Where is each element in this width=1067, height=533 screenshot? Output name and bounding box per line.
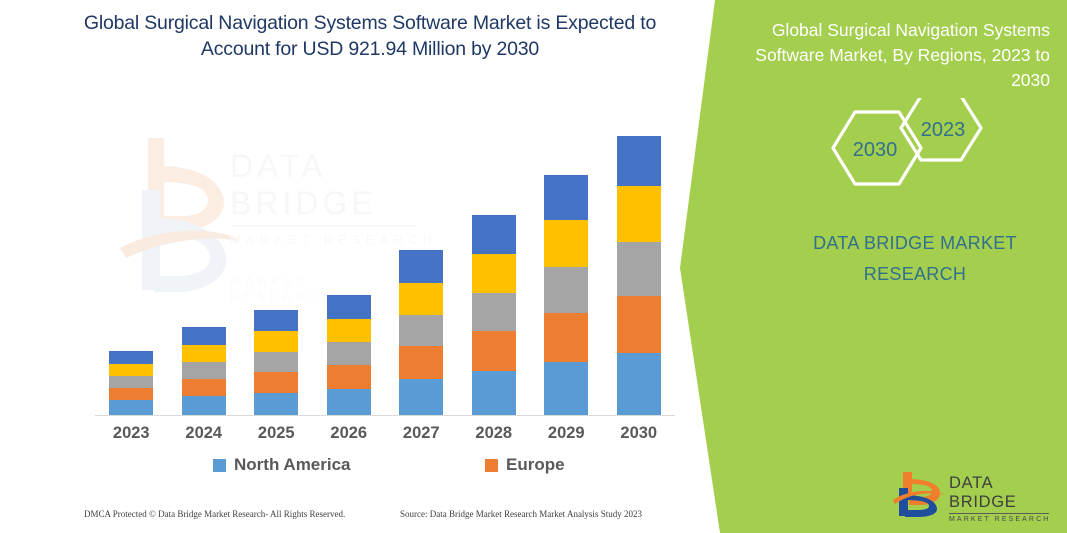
company-logo: DATA BRIDGE MARKET RESEARCH: [893, 470, 1053, 518]
bar-segment-middle-east-and-africa[interactable]: [399, 250, 443, 283]
footer: DMCA Protected © Data Bridge Market Rese…: [0, 505, 700, 529]
x-axis-label-2028: 2028: [458, 424, 530, 443]
bar-segment-europe[interactable]: [254, 372, 298, 393]
panel-brand-line2: RESEARCH: [790, 259, 1040, 290]
bar-segment-middle-east-and-africa[interactable]: [617, 136, 661, 186]
bar-segment-north-america[interactable]: [254, 393, 298, 415]
bar-segment-north-america[interactable]: [544, 362, 588, 415]
legend-swatch-icon: [485, 459, 498, 472]
x-axis-label-2025: 2025: [240, 424, 312, 443]
bar-segment-middle-east-and-africa[interactable]: [182, 327, 226, 345]
bar-segment-south-america[interactable]: [399, 283, 443, 315]
bar-segment-europe[interactable]: [472, 331, 516, 371]
x-axis-line: [95, 415, 675, 416]
bar-segment-middle-east-and-africa[interactable]: [544, 175, 588, 220]
hexagon-badges: 2023 2030: [825, 98, 990, 208]
bar-segment-asia-pacific[interactable]: [327, 342, 371, 365]
bar-segment-south-america[interactable]: [109, 364, 153, 376]
legend-item-north-america[interactable]: North America: [213, 455, 351, 475]
hex-badge-label-2023: 2023: [921, 119, 966, 141]
bar-segment-asia-pacific[interactable]: [254, 352, 298, 372]
bar-segment-south-america[interactable]: [182, 345, 226, 362]
footer-copyright: DMCA Protected © Data Bridge Market Rese…: [84, 509, 345, 519]
legend-swatch-icon: [213, 459, 226, 472]
x-axis-label-2024: 2024: [168, 424, 240, 443]
panel-title: Global Surgical Navigation Systems Softw…: [740, 18, 1050, 93]
chart-legend: North AmericaEurope: [95, 455, 675, 483]
bar-segment-asia-pacific[interactable]: [472, 293, 516, 331]
bar-segment-europe[interactable]: [544, 313, 588, 362]
bar-segment-south-america[interactable]: [617, 186, 661, 242]
x-axis-label-2027: 2027: [385, 424, 457, 443]
bar-2024[interactable]: [182, 327, 226, 415]
panel-brand-line1: DATA BRIDGE MARKET: [790, 228, 1040, 259]
x-axis-label-2026: 2026: [313, 424, 385, 443]
bar-segment-middle-east-and-africa[interactable]: [472, 215, 516, 254]
bar-chart-plot: [95, 120, 675, 416]
bar-segment-south-america[interactable]: [472, 254, 516, 293]
bar-segment-middle-east-and-africa[interactable]: [109, 351, 153, 364]
logo-subtitle: MARKET RESEARCH: [949, 516, 1053, 523]
bar-2023[interactable]: [109, 351, 153, 415]
logo-text: DATA BRIDGE MARKET RESEARCH: [949, 474, 1053, 523]
bar-segment-asia-pacific[interactable]: [617, 242, 661, 296]
legend-item-europe[interactable]: Europe: [485, 455, 565, 475]
bar-2028[interactable]: [472, 215, 516, 415]
data-bridge-logo-icon: [893, 470, 945, 518]
bar-segment-asia-pacific[interactable]: [399, 315, 443, 346]
bar-2026[interactable]: [327, 295, 371, 415]
hex-badge-label-2030: 2030: [853, 139, 898, 161]
bar-segment-north-america[interactable]: [182, 396, 226, 415]
bar-segment-south-america[interactable]: [327, 319, 371, 342]
bar-segment-europe[interactable]: [399, 346, 443, 379]
legend-label: North America: [234, 455, 351, 475]
bar-segment-europe[interactable]: [109, 388, 153, 400]
panel-brand-text: DATA BRIDGE MARKET RESEARCH: [790, 228, 1040, 290]
bar-2027[interactable]: [399, 250, 443, 415]
bar-segment-south-america[interactable]: [544, 220, 588, 267]
bar-2025[interactable]: [254, 310, 298, 415]
bar-segment-north-america[interactable]: [472, 371, 516, 415]
bar-segment-middle-east-and-africa[interactable]: [327, 295, 371, 319]
bar-segment-europe[interactable]: [617, 296, 661, 353]
bar-2029[interactable]: [544, 175, 588, 415]
bar-segment-asia-pacific[interactable]: [109, 376, 153, 388]
bar-segment-north-america[interactable]: [327, 389, 371, 415]
page-title: Global Surgical Navigation Systems Softw…: [60, 10, 680, 62]
bar-segment-europe[interactable]: [182, 379, 226, 396]
bar-segment-europe[interactable]: [327, 365, 371, 389]
logo-rule: [949, 513, 1049, 514]
x-axis-labels: 20232024202520262027202820292030: [95, 424, 675, 450]
legend-label: Europe: [506, 455, 565, 475]
bar-segment-north-america[interactable]: [617, 353, 661, 415]
bar-2030[interactable]: [617, 136, 661, 415]
footer-source: Source: Data Bridge Market Research Mark…: [400, 509, 642, 519]
bar-segment-south-america[interactable]: [254, 331, 298, 352]
bar-segment-middle-east-and-africa[interactable]: [254, 310, 298, 331]
bar-segment-north-america[interactable]: [109, 400, 153, 415]
logo-title: DATA BRIDGE: [949, 474, 1053, 512]
chart-panel: Global Surgical Navigation Systems Softw…: [0, 0, 720, 533]
bar-segment-asia-pacific[interactable]: [544, 267, 588, 313]
bar-segment-north-america[interactable]: [399, 379, 443, 415]
infographic-root: Global Surgical Navigation Systems Softw…: [0, 0, 1067, 533]
x-axis-label-2029: 2029: [530, 424, 602, 443]
x-axis-label-2023: 2023: [95, 424, 167, 443]
bar-segment-asia-pacific[interactable]: [182, 362, 226, 379]
